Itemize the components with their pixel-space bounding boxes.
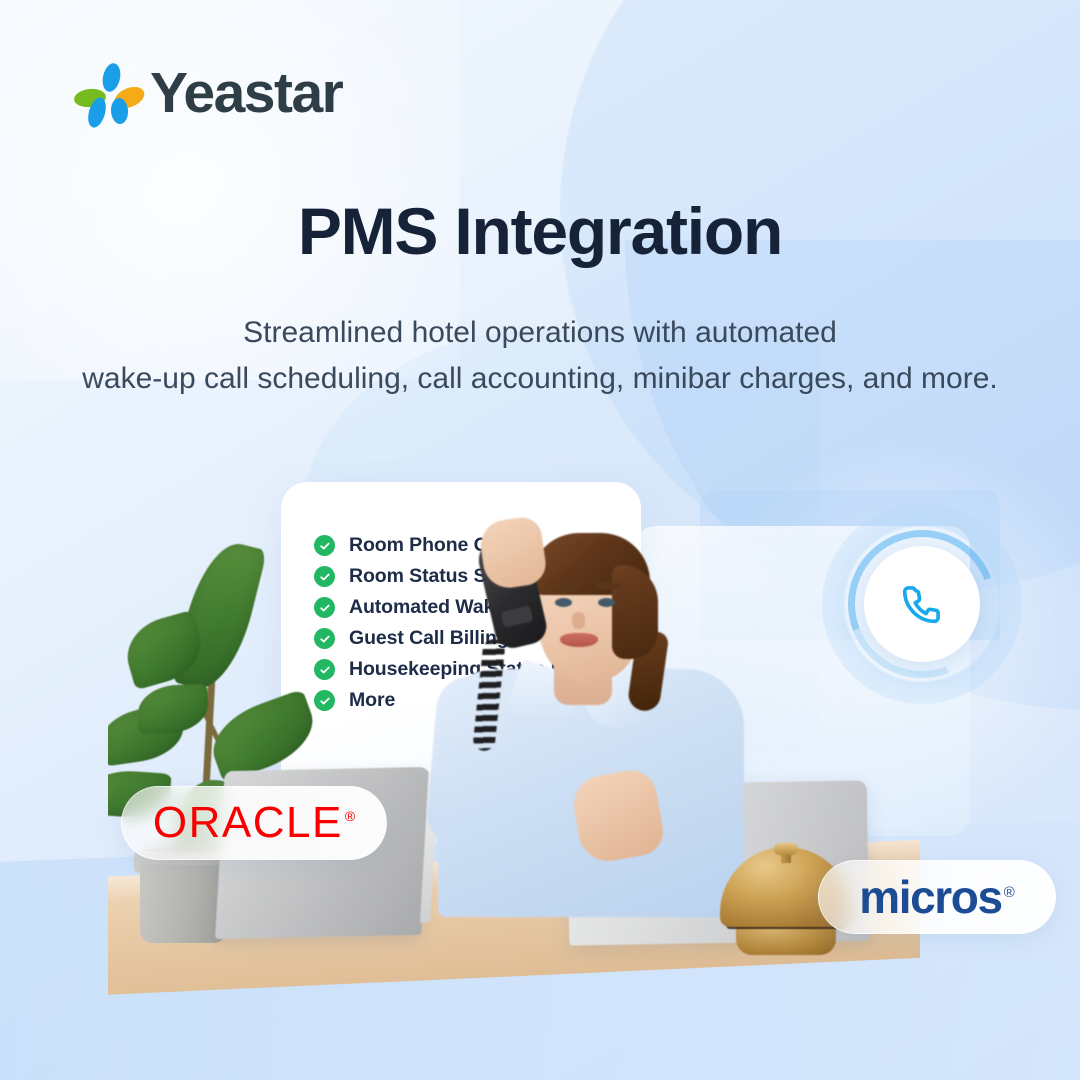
registered-trademark-icon: ® bbox=[345, 808, 355, 824]
plant-pot bbox=[140, 865, 226, 943]
brand-logo: Yeastar bbox=[76, 62, 342, 124]
scene-photo bbox=[108, 470, 920, 995]
service-bell-knob bbox=[774, 843, 798, 855]
petal-top-icon bbox=[100, 62, 123, 94]
micros-wordmark-text: micros bbox=[859, 871, 1001, 923]
mouth bbox=[560, 633, 598, 647]
page-title: PMS Integration bbox=[0, 198, 1080, 264]
eye-right bbox=[598, 598, 615, 607]
nose bbox=[572, 612, 585, 629]
plant-leaf bbox=[137, 684, 209, 734]
brand-wordmark: Yeastar bbox=[150, 65, 342, 122]
registered-trademark-icon: ® bbox=[1004, 884, 1015, 901]
oracle-wordmark-text: ORACLE bbox=[153, 798, 343, 847]
partner-badge-oracle: ORACLE® bbox=[121, 786, 387, 860]
page-subtitle-line-1: Streamlined hotel operations with automa… bbox=[60, 310, 1020, 356]
oracle-wordmark: ORACLE® bbox=[153, 801, 355, 845]
page-subtitle: Streamlined hotel operations with automa… bbox=[0, 310, 1080, 401]
hair-side bbox=[612, 565, 658, 659]
micros-wordmark: micros® bbox=[859, 874, 1015, 920]
eye-left bbox=[555, 598, 572, 607]
yeastar-petal-mark-icon bbox=[76, 62, 138, 124]
page-subtitle-line-2: wake-up call scheduling, call accounting… bbox=[60, 356, 1020, 402]
promo-graphic: Yeastar PMS Integration Streamlined hote… bbox=[0, 0, 1080, 1080]
receptionist-photo bbox=[426, 487, 756, 917]
partner-badge-micros: micros® bbox=[818, 860, 1056, 934]
